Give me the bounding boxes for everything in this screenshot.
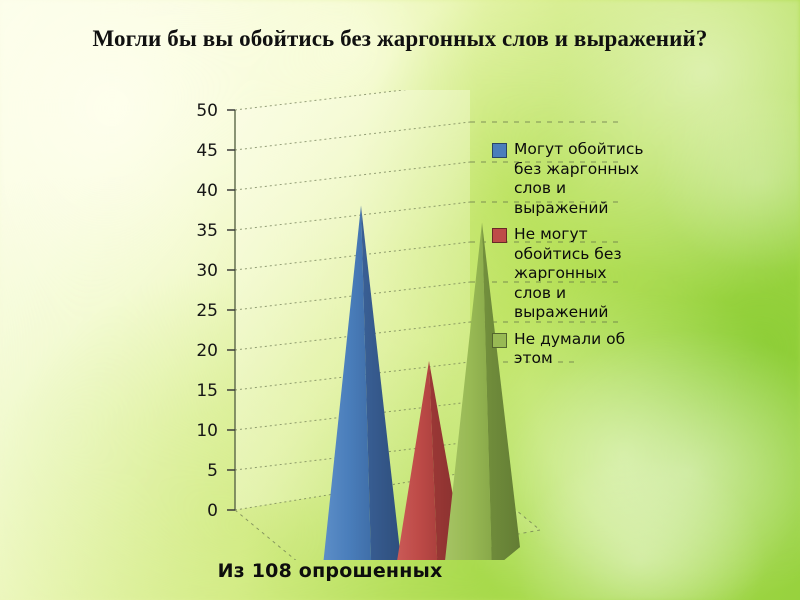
chart-caption: Из 108 опрошенных: [120, 560, 540, 582]
y-tick-label: 10: [196, 421, 218, 441]
legend-item-2[interactable]: Не думали об этом: [492, 330, 662, 369]
slide-root: Могли бы вы обойтись без жаргонных слов …: [0, 0, 800, 600]
y-tick-label: 5: [207, 461, 218, 481]
y-axis-tick-labels: 50 45 40 35 30 25 20 15 10 5 0: [196, 101, 218, 521]
y-tick-label: 50: [196, 101, 218, 121]
page-title: Могли бы вы обойтись без жаргонных слов …: [0, 26, 800, 52]
legend-label-1: Не могут обойтись без жаргонных слов и в…: [514, 225, 646, 323]
y-tick-label: 35: [196, 221, 218, 241]
legend-item-0[interactable]: Могут обойтись без жаргонных слов и выра…: [492, 140, 662, 218]
legend-swatch-icon-0: [492, 143, 507, 158]
y-tick-label: 20: [196, 341, 218, 361]
y-tick-label: 15: [196, 381, 218, 401]
legend-swatch-icon-1: [492, 228, 507, 243]
legend-item-1[interactable]: Не могут обойтись без жаргонных слов и в…: [492, 225, 662, 323]
y-tick-label: 0: [207, 501, 218, 521]
y-tick-label: 25: [196, 301, 218, 321]
y-tick-label: 40: [196, 181, 218, 201]
legend-label-2: Не думали об этом: [514, 330, 646, 369]
y-tick-label: 45: [196, 141, 218, 161]
y-axis: [227, 110, 235, 510]
legend-label-0: Могут обойтись без жаргонных слов и выра…: [514, 140, 646, 218]
y-tick-label: 30: [196, 261, 218, 281]
chart-legend: Могут обойтись без жаргонных слов и выра…: [492, 140, 662, 376]
legend-swatch-icon-2: [492, 333, 507, 348]
